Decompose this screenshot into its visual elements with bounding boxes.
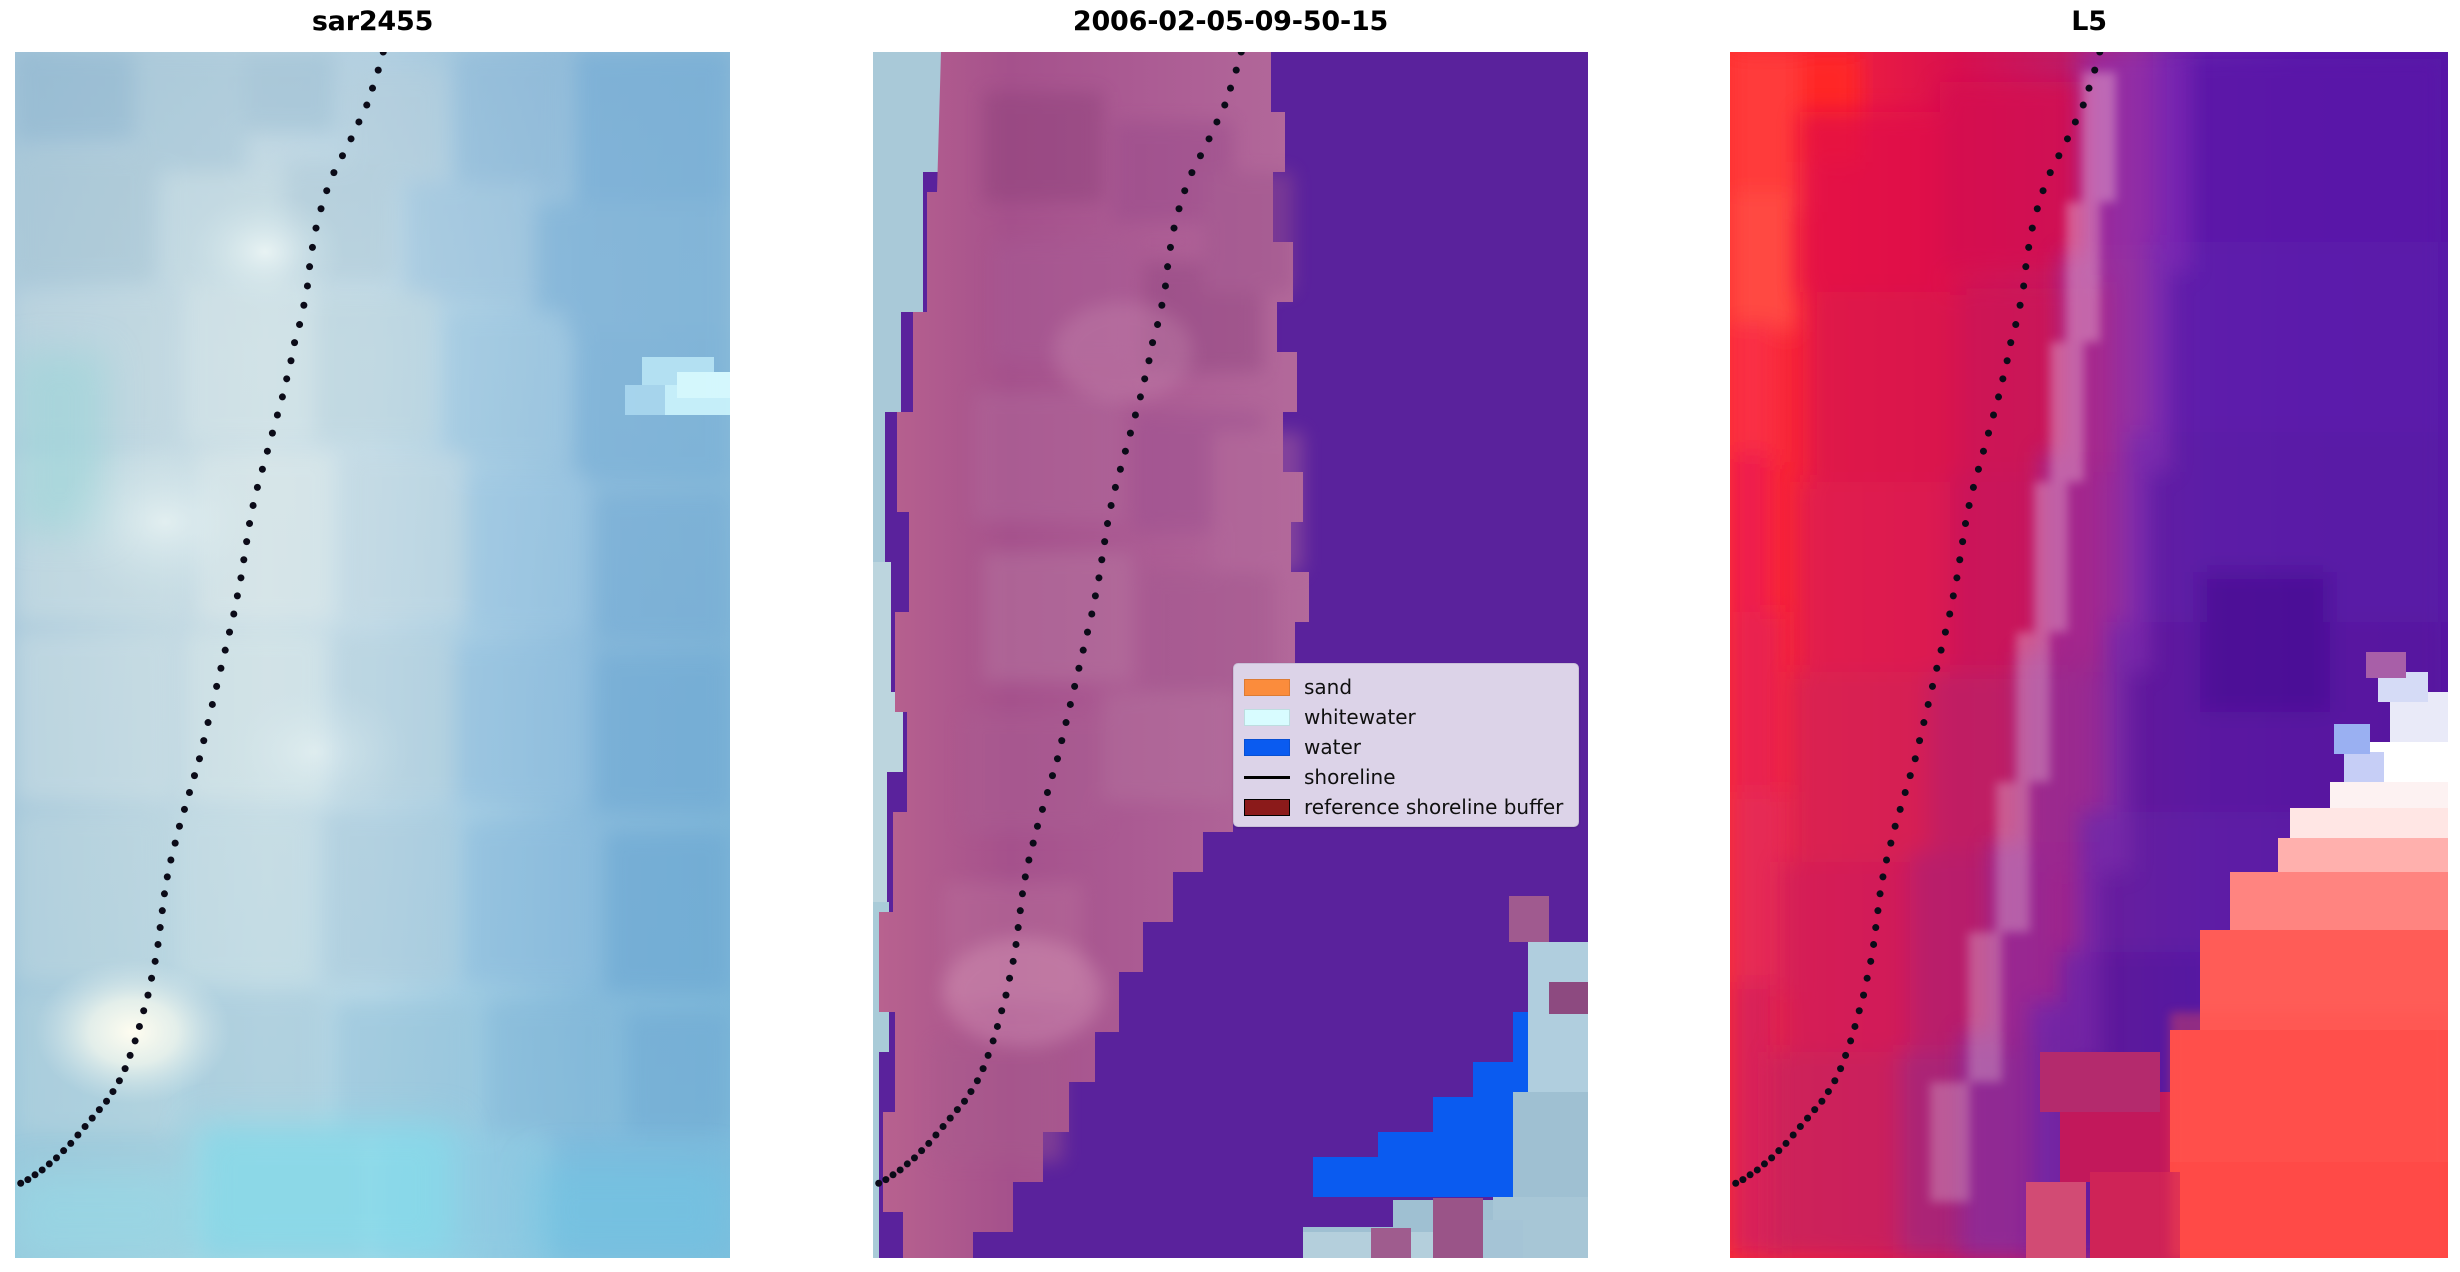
shoreline-overlay-l5 — [1730, 52, 2448, 1258]
image-panel-sar[interactable] — [15, 52, 730, 1258]
legend-item-whitewater: whitewater — [1244, 702, 1568, 732]
legend-label-reference-buffer: reference shoreline buffer — [1304, 797, 1563, 817]
panel-title-l5: L5 — [1730, 8, 2448, 35]
shoreline-line-icon — [1244, 776, 1290, 779]
legend-label-sand: sand — [1304, 677, 1352, 697]
image-panel-l5[interactable] — [1730, 52, 2448, 1258]
water-swatch-icon — [1244, 739, 1290, 756]
whitewater-swatch-icon — [1244, 709, 1290, 726]
legend-item-water: water — [1244, 732, 1568, 762]
legend-item-reference-buffer: reference shoreline buffer — [1244, 792, 1568, 822]
legend-label-shoreline: shoreline — [1304, 767, 1396, 787]
reference-buffer-swatch-icon — [1244, 799, 1290, 816]
legend-label-whitewater: whitewater — [1304, 707, 1416, 727]
sand-swatch-icon — [1244, 679, 1290, 696]
panel-title-sar: sar2455 — [15, 8, 730, 35]
legend-label-water: water — [1304, 737, 1361, 757]
figure-canvas: sar2455 2006-02-05-09-50-15 L5 — [0, 0, 2460, 1272]
panel-title-date: 2006-02-05-09-50-15 — [873, 8, 1588, 35]
image-panel-classified[interactable] — [873, 52, 1588, 1258]
legend-item-shoreline: shoreline — [1244, 762, 1568, 792]
shoreline-overlay-sar — [15, 52, 730, 1258]
legend-item-sand: sand — [1244, 672, 1568, 702]
shoreline-overlay-classified — [873, 52, 1588, 1258]
legend: sand whitewater water shoreline referenc… — [1233, 663, 1579, 827]
